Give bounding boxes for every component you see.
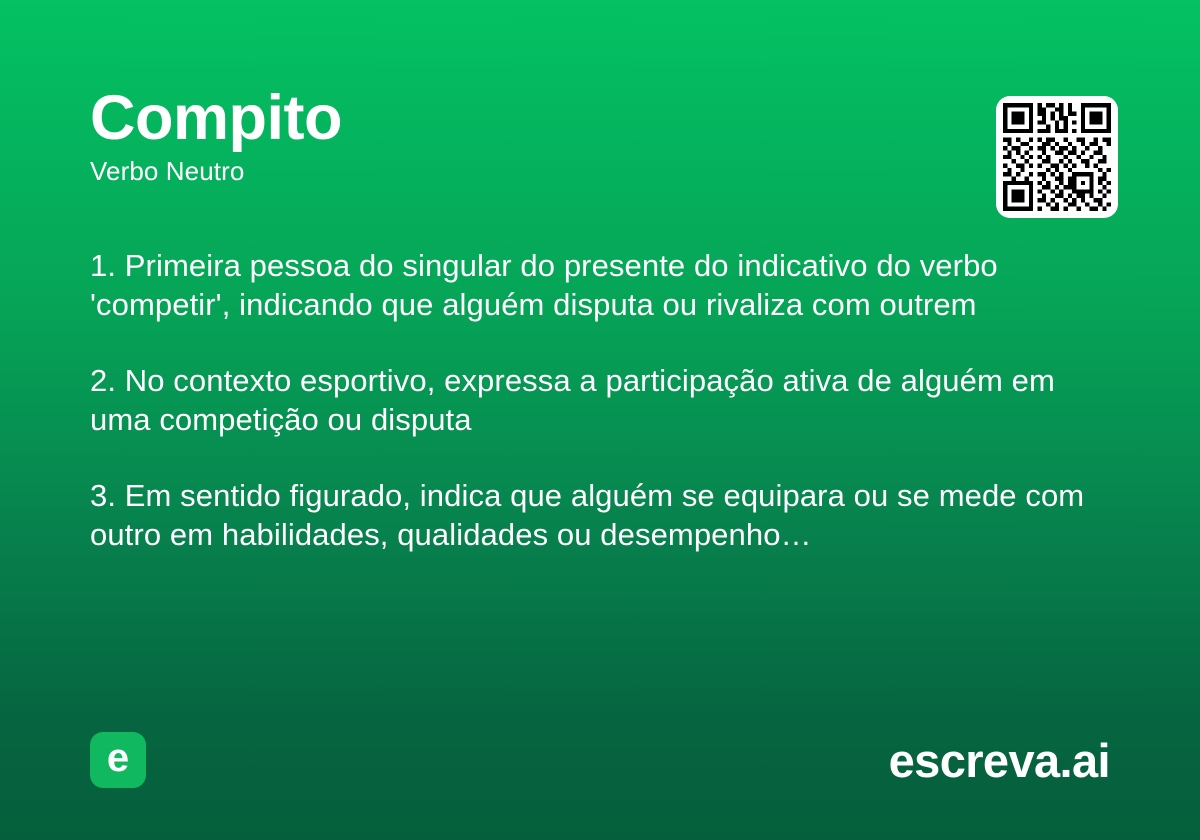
definition-item: 3. Em sentido figurado, indica que algué… xyxy=(90,476,1108,554)
card-footer: e escreva.ai xyxy=(90,732,1110,788)
definition-list: 1. Primeira pessoa do singular do presen… xyxy=(90,246,1108,554)
word-class-subtitle: Verbo Neutro xyxy=(90,156,1110,187)
page-title: Compito xyxy=(90,86,1110,150)
escreva-logo-icon: e xyxy=(90,732,146,788)
word-definition-card: Compito Verbo Neutro xyxy=(0,0,1200,840)
qr-code[interactable] xyxy=(996,96,1118,218)
brand-wordmark: escreva.ai xyxy=(889,733,1110,788)
definition-item: 1. Primeira pessoa do singular do presen… xyxy=(90,246,1108,324)
definition-item: 2. No contexto esportivo, expressa a par… xyxy=(90,361,1108,439)
card-header: Compito Verbo Neutro xyxy=(90,86,1110,187)
logo-letter: e xyxy=(107,738,129,778)
